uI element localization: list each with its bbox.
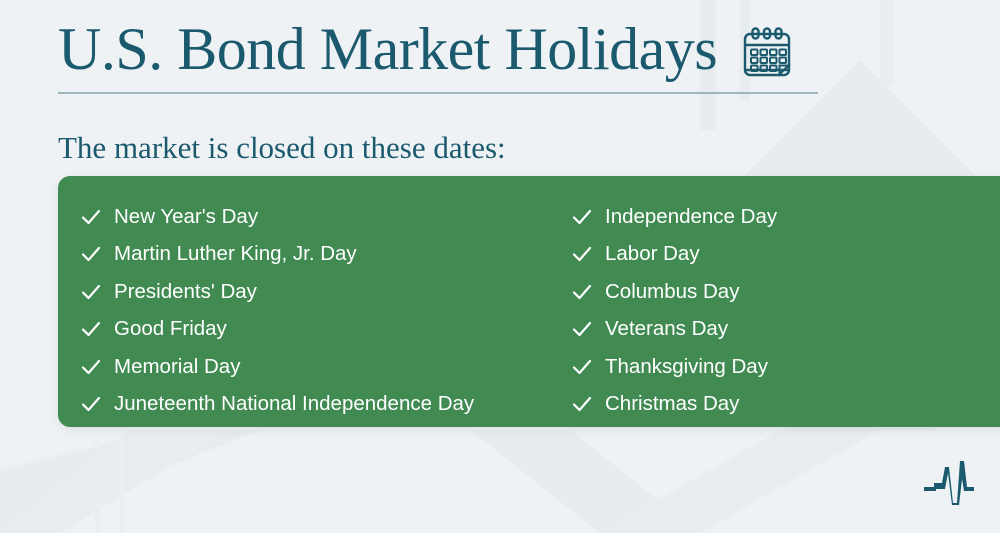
holiday-label: Veterans Day [605, 319, 728, 340]
list-item: Independence Day [571, 198, 777, 236]
list-item: New Year's Day [80, 198, 553, 236]
check-icon [571, 243, 593, 265]
holiday-label: Presidents' Day [114, 282, 257, 303]
holiday-label: Martin Luther King, Jr. Day [114, 244, 357, 265]
holiday-label: New Year's Day [114, 207, 258, 228]
title-row: U.S. Bond Market Holidays [58, 18, 958, 81]
list-item: Veterans Day [571, 311, 777, 349]
holiday-label: Thanksgiving Day [605, 357, 768, 378]
list-item: Thanksgiving Day [571, 348, 777, 386]
list-item: Columbus Day [571, 273, 777, 311]
page-title: U.S. Bond Market Holidays [58, 18, 717, 81]
holiday-label: Memorial Day [114, 357, 240, 378]
list-item: Labor Day [571, 236, 777, 274]
page-subtitle: The market is closed on these dates: [58, 130, 506, 166]
page-header: U.S. Bond Market Holidays [58, 18, 958, 81]
check-icon [80, 206, 102, 228]
check-icon [80, 356, 102, 378]
check-icon [571, 318, 593, 340]
check-icon [80, 243, 102, 265]
check-icon [571, 356, 593, 378]
check-icon [80, 393, 102, 415]
title-divider [58, 92, 818, 94]
list-item: Presidents' Day [80, 273, 553, 311]
holiday-column-right: Independence Day Labor Day Columbus Day … [553, 198, 777, 427]
list-item: Juneteenth National Independence Day [80, 386, 553, 424]
holiday-label: Labor Day [605, 244, 700, 265]
holiday-panel: New Year's Day Martin Luther King, Jr. D… [58, 176, 1000, 427]
holiday-label: Christmas Day [605, 394, 739, 415]
holiday-label: Juneteenth National Independence Day [114, 394, 474, 415]
check-icon [571, 281, 593, 303]
list-item: Good Friday [80, 311, 553, 349]
list-item: Memorial Day [80, 348, 553, 386]
calendar-icon [739, 25, 795, 81]
holiday-label: Columbus Day [605, 282, 739, 303]
waveform-m-logo-icon [922, 457, 978, 507]
check-icon [571, 393, 593, 415]
check-icon [571, 206, 593, 228]
holiday-label: Independence Day [605, 207, 777, 228]
list-item: Christmas Day [571, 386, 777, 424]
holiday-column-left: New Year's Day Martin Luther King, Jr. D… [58, 198, 553, 427]
check-icon [80, 318, 102, 340]
list-item: Martin Luther King, Jr. Day [80, 236, 553, 274]
check-icon [80, 281, 102, 303]
holiday-label: Good Friday [114, 319, 227, 340]
